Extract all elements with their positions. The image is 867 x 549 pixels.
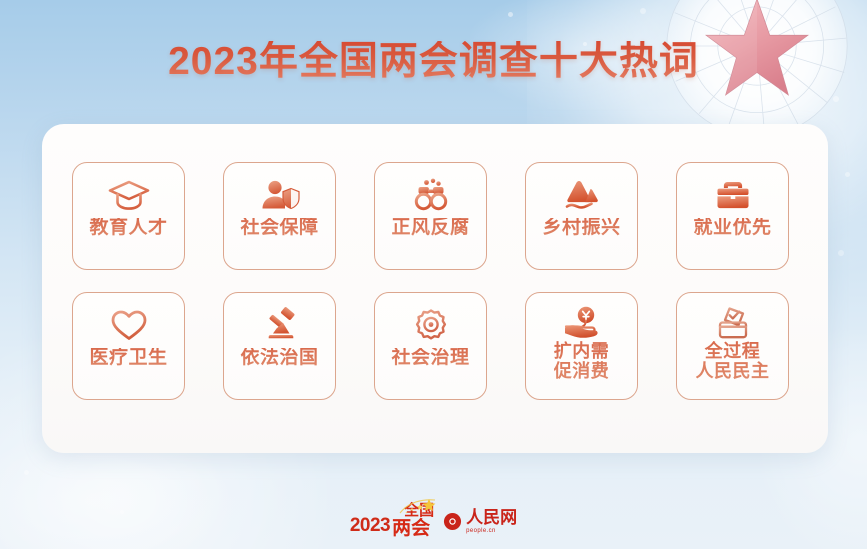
keyword-label: 全过程 人民民主 — [696, 341, 770, 381]
keywords-panel: 教育人才 — [42, 124, 828, 453]
keyword-card-rural-revitalization[interactable]: 乡村振兴 — [525, 162, 638, 270]
graduation-cap-icon — [107, 174, 151, 216]
sparkle-dot — [640, 8, 646, 14]
mountains-icon — [560, 174, 604, 216]
publisher-text: 人民网 people.cn — [466, 509, 517, 534]
keyword-label: 就业优先 — [693, 218, 771, 239]
person-shield-icon — [258, 174, 302, 216]
gear-target-icon — [409, 304, 453, 346]
keyword-label: 乡村振兴 — [542, 218, 620, 239]
keyword-label: 扩内需 促消费 — [554, 341, 610, 381]
logo-stars-icon — [398, 497, 438, 519]
publisher-logo: 人民网 people.cn — [443, 509, 517, 534]
sparkle-dot — [845, 172, 850, 177]
logo-year: 2023 — [350, 516, 390, 535]
keyword-card-healthcare[interactable]: 医疗卫生 — [72, 292, 185, 400]
gavel-icon — [258, 304, 302, 346]
logo-text-lianghui: 两会 — [392, 519, 434, 539]
hand-yuan-icon — [560, 304, 604, 342]
sparkle-dot — [24, 470, 29, 475]
footer-logo: 2023 全国 两会 人民网 people.cn — [0, 503, 867, 539]
keyword-label: 医疗卫生 — [89, 348, 167, 369]
briefcase-icon — [711, 174, 755, 216]
keywords-grid: 教育人才 — [72, 162, 798, 400]
keyword-card-whole-process-democracy[interactable]: 全过程 人民民主 — [676, 292, 789, 400]
keyword-card-social-governance[interactable]: 社会治理 — [374, 292, 487, 400]
keyword-label: 社会治理 — [391, 348, 469, 369]
keyword-label: 教育人才 — [89, 218, 167, 239]
publisher-name: 人民网 — [466, 509, 517, 526]
heart-plus-icon — [107, 304, 151, 346]
sparkle-dot — [804, 18, 809, 23]
publisher-domain: people.cn — [466, 528, 517, 534]
keyword-card-employment-first[interactable]: 就业优先 — [676, 162, 789, 270]
keyword-card-education-talent[interactable]: 教育人才 — [72, 162, 185, 270]
keyword-label: 正风反腐 — [391, 218, 469, 239]
sparkle-dot — [508, 12, 513, 17]
keyword-label: 依法治国 — [240, 348, 318, 369]
keyword-label: 社会保障 — [240, 218, 318, 239]
poster-root: 2023年全国两会调查十大热词 — [0, 0, 867, 549]
keyword-card-social-security[interactable]: 社会保障 — [223, 162, 336, 270]
people-cn-mark-icon — [443, 512, 462, 531]
sparkle-dot — [838, 250, 844, 256]
keyword-card-rule-of-law[interactable]: 依法治国 — [223, 292, 336, 400]
handcuffs-icon — [409, 174, 453, 216]
keyword-card-expand-demand-promote-consumption[interactable]: 扩内需 促消费 — [525, 292, 638, 400]
lianghui-logo: 2023 全国 两会 — [350, 503, 434, 539]
ballot-box-icon — [711, 304, 755, 342]
keyword-card-anti-corruption[interactable]: 正风反腐 — [374, 162, 487, 270]
sparkle-dot — [833, 96, 839, 102]
page-title: 2023年全国两会调查十大热词 — [0, 41, 867, 83]
